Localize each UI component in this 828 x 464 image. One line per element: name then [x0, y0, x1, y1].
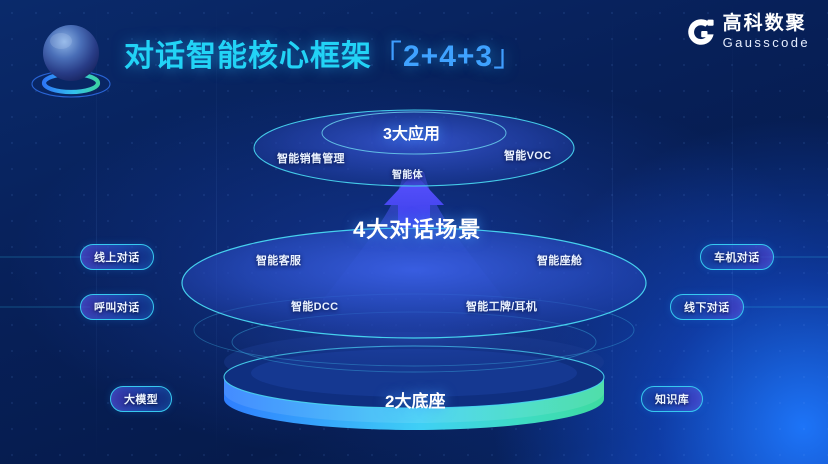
chip-knowledge-base[interactable]: 知识库: [641, 386, 703, 412]
scene-label-dcc: 智能DCC: [291, 298, 338, 314]
chip-invehicle-dialogue[interactable]: 车机对话: [700, 244, 774, 270]
layer-title-apps: 3大应用: [383, 120, 440, 144]
chip-online-dialogue[interactable]: 线上对话: [80, 244, 154, 270]
chip-call-dialogue[interactable]: 呼叫对话: [80, 294, 154, 320]
scene-label-badge: 智能工牌/耳机: [466, 298, 537, 314]
layer-scene-disc: [182, 228, 646, 338]
apps-label-voc: 智能VOC: [504, 147, 551, 163]
layer-title-base: 2大底座: [385, 387, 445, 412]
chip-offline-dialogue[interactable]: 线下对话: [670, 294, 744, 320]
slide-canvas: 对话智能核心框架「2+4+3」 高科数聚 Gausscode: [0, 0, 828, 464]
layer-title-scenes: 4大对话场景: [353, 212, 481, 244]
chip-large-model[interactable]: 大模型: [110, 386, 172, 412]
scene-label-cockpit: 智能座舱: [537, 252, 582, 268]
apps-label-sales: 智能销售管理: [277, 150, 345, 166]
apps-label-agent: 智能体: [392, 166, 423, 181]
scene-label-service: 智能客服: [256, 252, 301, 268]
